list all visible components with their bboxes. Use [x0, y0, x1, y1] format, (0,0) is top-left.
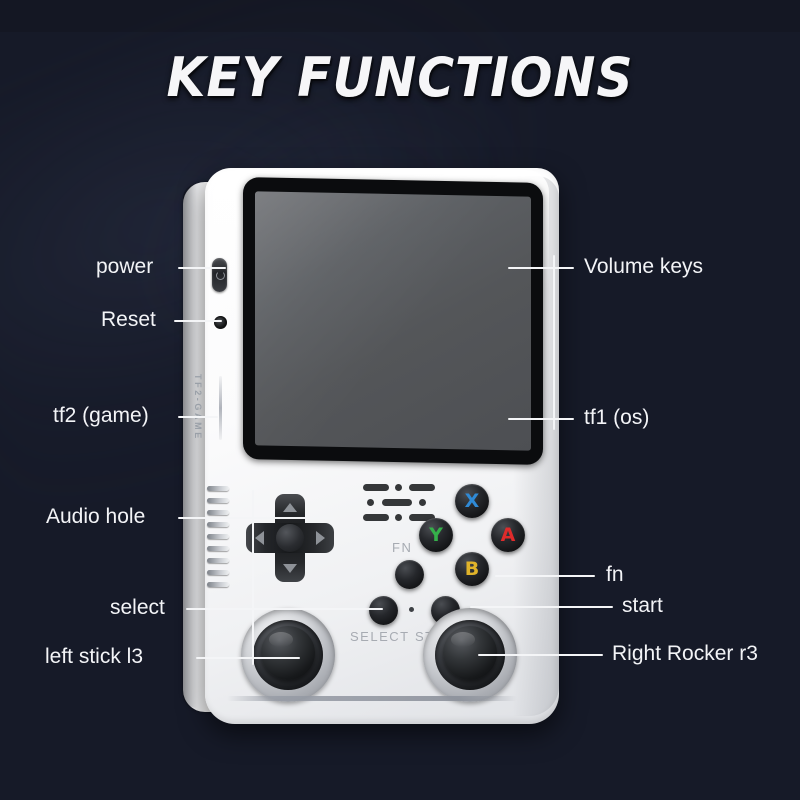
callout-tf1-os: tf1 (os)	[584, 406, 649, 430]
screen-reflection	[255, 191, 531, 450]
select-button[interactable]	[369, 596, 398, 625]
select-button-caption: SELECT	[350, 629, 410, 644]
button-y[interactable]: Y	[419, 518, 453, 552]
screen-bezel	[243, 177, 543, 465]
callout-audio-hole: Audio hole	[46, 505, 145, 529]
callout-start: start	[622, 594, 663, 618]
leader-line-select	[186, 608, 383, 610]
callout-left-stick: left stick l3	[45, 645, 143, 669]
button-a[interactable]: A	[491, 518, 525, 552]
dpad-center-hub	[276, 524, 304, 552]
callout-power: power	[96, 255, 153, 279]
screenshot-root: KEY FUNCTIONS TF2-GAME	[0, 0, 800, 800]
audio-hole-vents	[205, 484, 231, 604]
left-stick-highlight	[269, 632, 293, 647]
tf2-slot-label: TF2-GAME	[193, 374, 203, 474]
button-x-label: X	[465, 492, 480, 511]
tf2-card-slot[interactable]	[219, 376, 222, 440]
callout-reset: Reset	[101, 308, 156, 332]
leader-line-reset	[174, 320, 222, 322]
leader-line-start	[470, 606, 613, 608]
leader-line-tf1	[508, 418, 574, 420]
button-b-label: B	[465, 560, 479, 579]
status-led	[409, 607, 414, 612]
left-analog-stick[interactable]	[241, 608, 335, 702]
leader-guide-right	[553, 255, 555, 430]
callout-fn: fn	[606, 563, 624, 587]
fn-button[interactable]	[395, 560, 424, 589]
button-a-label: A	[501, 526, 516, 545]
right-stick-highlight	[451, 632, 475, 647]
leader-line-right-rocker	[478, 654, 603, 656]
button-y-label: Y	[429, 526, 443, 545]
callout-select: select	[110, 596, 165, 620]
dpad-down-icon	[283, 564, 297, 573]
callout-tf2-game: tf2 (game)	[53, 404, 149, 428]
handheld-console: TF2-GAME	[183, 168, 559, 728]
dpad[interactable]	[246, 494, 334, 582]
dpad-right-icon	[316, 531, 325, 545]
callout-right-rocker: Right Rocker r3	[612, 642, 758, 666]
button-x[interactable]: X	[455, 484, 489, 518]
leader-line-fn	[495, 575, 595, 577]
reset-button[interactable]	[214, 316, 227, 329]
leader-line-tf2	[178, 416, 218, 418]
page-title: KEY FUNCTIONS	[28, 46, 772, 109]
dpad-up-icon	[283, 503, 297, 512]
fn-button-caption: FN	[392, 540, 412, 555]
dpad-left-icon	[255, 531, 264, 545]
leader-line-power	[178, 267, 226, 269]
leader-line-volume-keys	[508, 267, 574, 269]
button-b[interactable]: B	[455, 552, 489, 586]
leader-line-left-stick	[196, 657, 300, 659]
callout-volume-keys: Volume keys	[584, 255, 703, 279]
leader-line-audio-hole	[178, 517, 334, 519]
leader-guide-left	[252, 490, 254, 665]
speaker-grille	[363, 484, 435, 522]
power-icon	[216, 271, 225, 280]
device-bottom-seam	[227, 696, 517, 701]
